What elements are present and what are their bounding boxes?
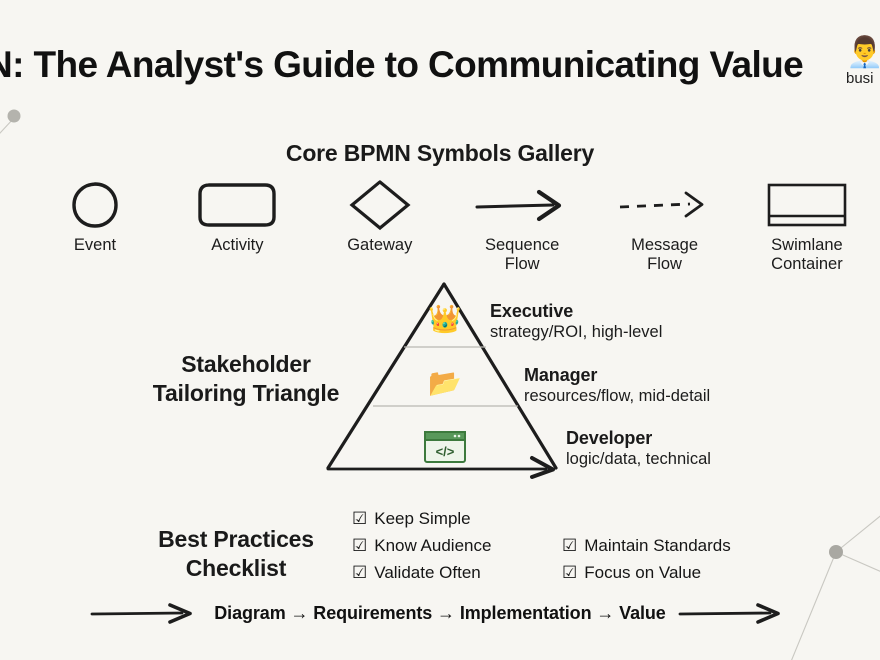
list-item[interactable]: ☑ Focus on Value	[562, 559, 731, 586]
bpmn-activity-rounded-rect-icon	[195, 176, 279, 234]
svg-text:</>: </>	[436, 444, 455, 459]
whiteboard-canvas: N: The Analyst's Guide to Communicating …	[0, 0, 880, 660]
symbol-label: Activity	[211, 236, 263, 255]
code-window-icon: </>	[422, 430, 468, 469]
symbol-sequence-flow[interactable]: SequenceFlow	[463, 176, 581, 274]
checkbox-checked-icon: ☑	[352, 510, 367, 527]
tier-label-manager: Manager resources/flow, mid-detail	[524, 365, 710, 406]
flow-chain-label: Diagram → Requirements → Implementation …	[206, 603, 673, 624]
symbol-gateway[interactable]: Gateway	[321, 176, 439, 255]
gallery-heading: Core BPMN Symbols Gallery	[0, 140, 880, 167]
tier-desc: resources/flow, mid-detail	[524, 386, 710, 406]
checkbox-checked-icon: ☑	[352, 564, 367, 581]
business-analyst-persona: 👨‍💼 busi	[846, 36, 880, 88]
symbol-label: MessageFlow	[631, 236, 698, 274]
tier-role: Executive	[490, 301, 662, 322]
flow-arrow-right-icon	[674, 600, 794, 626]
list-item-label: Validate Often	[374, 563, 480, 583]
checkbox-checked-icon: ☑	[352, 537, 367, 554]
tier-label-developer: Developer logic/data, technical	[566, 428, 711, 469]
symbol-label: Event	[74, 236, 116, 255]
checkbox-checked-icon: ☑	[562, 564, 577, 581]
symbol-label: Gateway	[347, 236, 412, 255]
list-item-label: Maintain Standards	[584, 536, 730, 556]
symbol-activity[interactable]: Activity	[178, 176, 296, 255]
bpmn-message-flow-dashed-arrow-icon	[616, 176, 714, 234]
best-practices-title: Best PracticesChecklist	[136, 525, 336, 583]
bpmn-symbol-gallery: Event Activity Gateway	[36, 176, 866, 274]
network-node	[829, 545, 843, 559]
checklist-column-one: ☑ Keep Simple ☑ Know Audience ☑ Validate…	[352, 505, 491, 586]
value-flow-strip: Diagram → Requirements → Implementation …	[0, 600, 880, 626]
bpmn-gateway-diamond-icon	[347, 176, 413, 234]
folder-icon: 📂	[422, 370, 468, 397]
bpmn-event-circle-icon	[69, 176, 121, 234]
tier-desc: strategy/ROI, high-level	[490, 322, 662, 342]
persona-label: busi	[846, 70, 880, 88]
tier-role: Developer	[566, 428, 711, 449]
tier-role: Manager	[524, 365, 710, 386]
list-item-label: Know Audience	[374, 536, 491, 556]
symbol-message-flow[interactable]: MessageFlow	[606, 176, 724, 274]
network-node	[8, 110, 21, 123]
list-item[interactable]: ☑ Maintain Standards	[562, 532, 731, 559]
page-title: N: The Analyst's Guide to Communicating …	[0, 44, 846, 86]
business-person-icon: 👨‍💼	[846, 36, 880, 70]
list-item-label: Focus on Value	[584, 563, 701, 583]
bpmn-sequence-flow-arrow-icon	[473, 176, 571, 234]
checklist-column-two: ☑ Maintain Standards ☑ Focus on Value	[562, 532, 731, 586]
tier-desc: logic/data, technical	[566, 449, 711, 469]
list-item[interactable]: ☑ Keep Simple	[352, 505, 491, 532]
tier-label-executive: Executive strategy/ROI, high-level	[490, 301, 662, 342]
list-item-label: Keep Simple	[374, 509, 470, 529]
symbol-label: SwimlaneContainer	[771, 236, 843, 274]
symbol-swimlane-container[interactable]: SwimlaneContainer	[748, 176, 866, 274]
symbol-label: SequenceFlow	[485, 236, 559, 274]
crown-icon: 👑	[422, 306, 468, 333]
list-item[interactable]: ☑ Know Audience	[352, 532, 491, 559]
checkbox-checked-icon: ☑	[562, 537, 577, 554]
symbol-event[interactable]: Event	[36, 176, 154, 255]
list-item[interactable]: ☑ Validate Often	[352, 559, 491, 586]
flow-arrow-left-icon	[86, 600, 206, 626]
bpmn-swimlane-container-icon	[764, 176, 850, 234]
